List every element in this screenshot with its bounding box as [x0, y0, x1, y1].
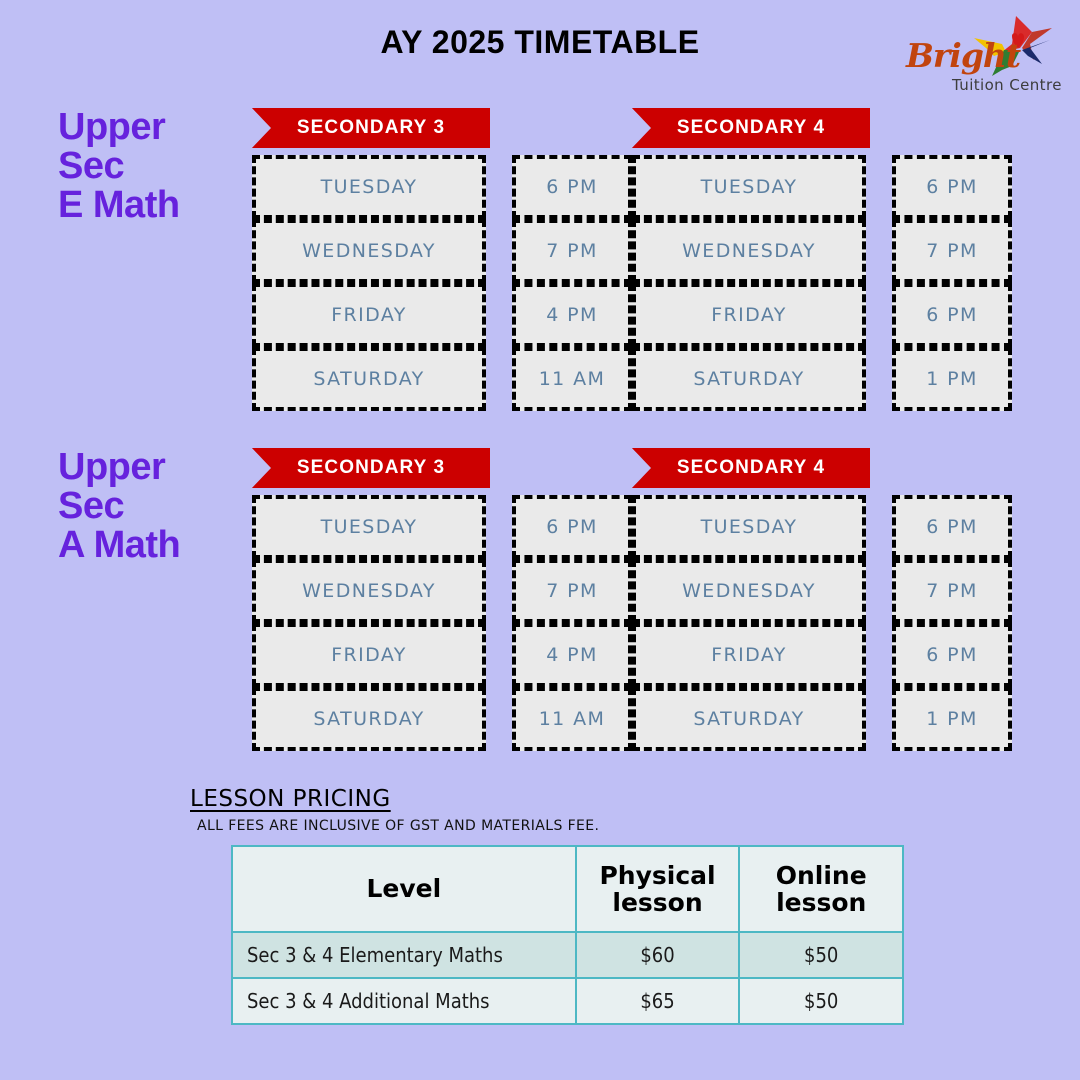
day-column: TUESDAY WEDNESDAY FRIDAY SATURDAY [632, 155, 866, 411]
time-cell: 6 PM [512, 155, 632, 219]
day-column: TUESDAY WEDNESDAY FRIDAY SATURDAY [252, 495, 486, 751]
cell-physical-price: $65 [576, 978, 740, 1024]
time-cell: 7 PM [512, 559, 632, 623]
time-cell: 7 PM [892, 559, 1012, 623]
column-header-line: Level [233, 875, 575, 903]
day-cell: WEDNESDAY [252, 559, 486, 623]
time-cell: 6 PM [892, 155, 1012, 219]
banner-label: SECONDARY 4 [677, 117, 825, 139]
time-cell: 6 PM [892, 623, 1012, 687]
grade-group-sec4-e-math: SECONDARY 4 TUESDAY WEDNESDAY FRIDAY SAT… [632, 108, 870, 148]
cell-level: Sec 3 & 4 Elementary Maths [232, 932, 576, 978]
time-cell: 7 PM [512, 219, 632, 283]
lesson-pricing-note: ALL FEES ARE INCLUSIVE OF GST AND MATERI… [197, 818, 599, 834]
column-gap [866, 495, 892, 751]
pricing-table: Level Physical lesson Online lesson Sec … [231, 845, 904, 1025]
lesson-pricing-heading: LESSON PRICING [190, 786, 391, 812]
time-cell: 7 PM [892, 219, 1012, 283]
day-cell: SATURDAY [252, 347, 486, 411]
column-header-line: lesson [740, 889, 902, 917]
time-column: 6 PM 7 PM 6 PM 1 PM [892, 155, 1012, 411]
schedule-tables: TUESDAY WEDNESDAY FRIDAY SATURDAY 6 PM 7… [632, 495, 1012, 751]
day-column: TUESDAY WEDNESDAY FRIDAY SATURDAY [252, 155, 486, 411]
banner-secondary-4: SECONDARY 4 [632, 108, 870, 148]
grade-group-sec3-e-math: SECONDARY 3 TUESDAY WEDNESDAY FRIDAY SAT… [252, 108, 490, 148]
section-label-line: Sec [58, 487, 258, 526]
banner-label: SECONDARY 3 [297, 457, 445, 479]
column-header-line: lesson [577, 889, 739, 917]
time-cell: 1 PM [892, 347, 1012, 411]
time-cell: 6 PM [512, 495, 632, 559]
day-cell: FRIDAY [632, 283, 866, 347]
cell-online-price: $50 [739, 978, 903, 1024]
table-row: Sec 3 & 4 Elementary Maths $60 $50 [232, 932, 903, 978]
column-gap [486, 495, 512, 751]
day-cell: WEDNESDAY [632, 219, 866, 283]
column-header-level: Level [232, 846, 576, 932]
time-cell: 11 AM [512, 687, 632, 751]
day-cell: TUESDAY [632, 155, 866, 219]
day-cell: TUESDAY [252, 155, 486, 219]
day-cell: SATURDAY [632, 687, 866, 751]
banner-secondary-4: SECONDARY 4 [632, 448, 870, 488]
table-row: Sec 3 & 4 Additional Maths $65 $50 [232, 978, 903, 1024]
time-column: 6 PM 7 PM 4 PM 11 AM [512, 155, 632, 411]
section-label-line: Sec [58, 147, 258, 186]
banner-label: SECONDARY 4 [677, 457, 825, 479]
section-label-a-math: Upper Sec A Math [58, 448, 258, 565]
column-header-line: Online [740, 862, 902, 890]
day-cell: TUESDAY [632, 495, 866, 559]
day-column: TUESDAY WEDNESDAY FRIDAY SATURDAY [632, 495, 866, 751]
schedule-tables: TUESDAY WEDNESDAY FRIDAY SATURDAY 6 PM 7… [252, 155, 632, 411]
column-header-line: Physical [577, 862, 739, 890]
time-column: 6 PM 7 PM 6 PM 1 PM [892, 495, 1012, 751]
logo-brand: Bright [906, 36, 1020, 75]
banner-secondary-3: SECONDARY 3 [252, 108, 490, 148]
time-cell: 4 PM [512, 283, 632, 347]
grade-group-sec4-a-math: SECONDARY 4 TUESDAY WEDNESDAY FRIDAY SAT… [632, 448, 870, 488]
logo: Bright Tuition Centre [902, 14, 1062, 106]
pricing-table-header-row: Level Physical lesson Online lesson [232, 846, 903, 932]
day-cell: SATURDAY [632, 347, 866, 411]
schedule-tables: TUESDAY WEDNESDAY FRIDAY SATURDAY 6 PM 7… [252, 495, 632, 751]
cell-online-price: $50 [739, 932, 903, 978]
time-cell: 11 AM [512, 347, 632, 411]
column-gap [486, 155, 512, 411]
time-cell: 6 PM [892, 495, 1012, 559]
time-column: 6 PM 7 PM 4 PM 11 AM [512, 495, 632, 751]
section-label-line: E Math [58, 186, 258, 225]
day-cell: FRIDAY [252, 623, 486, 687]
time-cell: 6 PM [892, 283, 1012, 347]
section-label-line: A Math [58, 526, 258, 565]
logo-tagline: Tuition Centre [952, 76, 1062, 94]
section-label-e-math: Upper Sec E Math [58, 108, 258, 225]
cell-level: Sec 3 & 4 Additional Maths [232, 978, 576, 1024]
day-cell: TUESDAY [252, 495, 486, 559]
day-cell: WEDNESDAY [632, 559, 866, 623]
column-header-online-lesson: Online lesson [739, 846, 903, 932]
column-gap [866, 155, 892, 411]
day-cell: FRIDAY [252, 283, 486, 347]
banner-secondary-3: SECONDARY 3 [252, 448, 490, 488]
column-header-physical-lesson: Physical lesson [576, 846, 740, 932]
day-cell: FRIDAY [632, 623, 866, 687]
day-cell: SATURDAY [252, 687, 486, 751]
time-cell: 4 PM [512, 623, 632, 687]
time-cell: 1 PM [892, 687, 1012, 751]
banner-label: SECONDARY 3 [297, 117, 445, 139]
cell-physical-price: $60 [576, 932, 740, 978]
schedule-tables: TUESDAY WEDNESDAY FRIDAY SATURDAY 6 PM 7… [632, 155, 1012, 411]
section-label-line: Upper [58, 448, 258, 487]
day-cell: WEDNESDAY [252, 219, 486, 283]
section-label-line: Upper [58, 108, 258, 147]
grade-group-sec3-a-math: SECONDARY 3 TUESDAY WEDNESDAY FRIDAY SAT… [252, 448, 490, 488]
